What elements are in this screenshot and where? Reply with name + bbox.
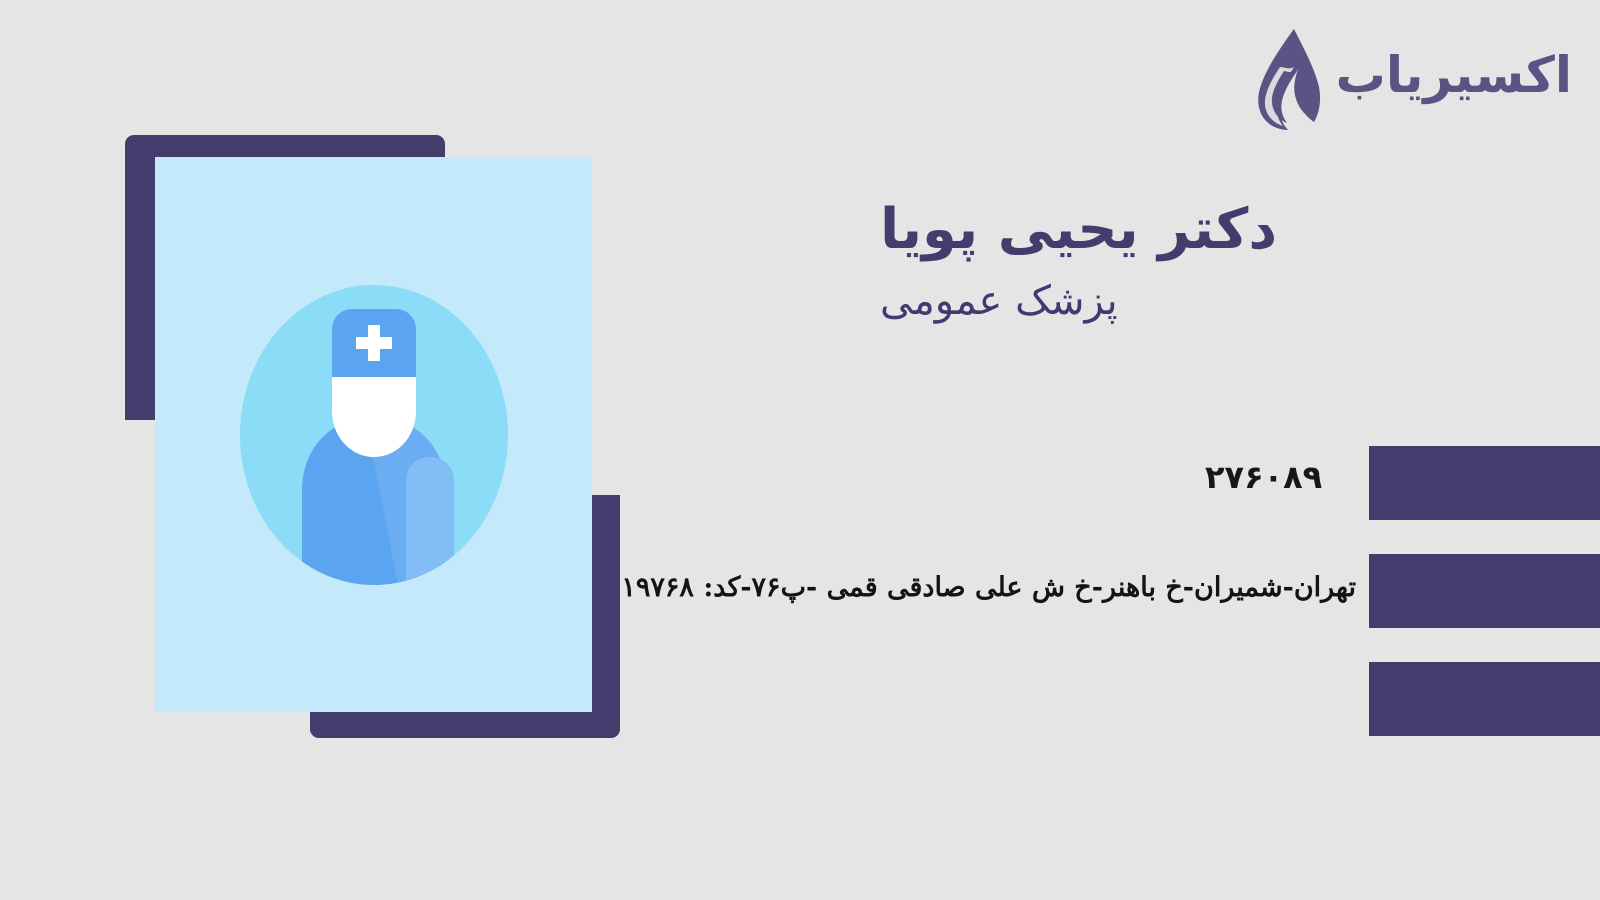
- licence-row: ۲۷۶۰۸۹: [0, 446, 1600, 522]
- decor-bar-bottom: [1369, 662, 1600, 736]
- doctor-specialty: پزشک عمومی: [600, 275, 1600, 327]
- decor-bar-top: [1369, 446, 1600, 520]
- address-row: تهران-شمیران-خ باهنر-خ ش علی صادقی قمی -…: [0, 556, 1600, 630]
- avatar: [240, 285, 508, 585]
- profile-card-canvas: اکسیریاب: [0, 0, 1600, 900]
- decor-bar-middle: [1369, 554, 1600, 628]
- doctor-name: دکتر یحیی پویا: [600, 195, 1600, 265]
- doctor-illustration: [125, 135, 625, 745]
- flame-droplet-icon: [1250, 27, 1326, 131]
- doctor-avatar-icon: [240, 285, 508, 585]
- doctor-info: دکتر یحیی پویا پزشک عمومی: [600, 195, 1600, 327]
- brand-logo[interactable]: اکسیریاب: [1250, 24, 1572, 134]
- licence-number: ۲۷۶۰۸۹: [1205, 458, 1322, 496]
- brand-name: اکسیریاب: [1336, 50, 1572, 108]
- doctor-address: تهران-شمیران-خ باهنر-خ ش علی صادقی قمی -…: [640, 572, 1356, 603]
